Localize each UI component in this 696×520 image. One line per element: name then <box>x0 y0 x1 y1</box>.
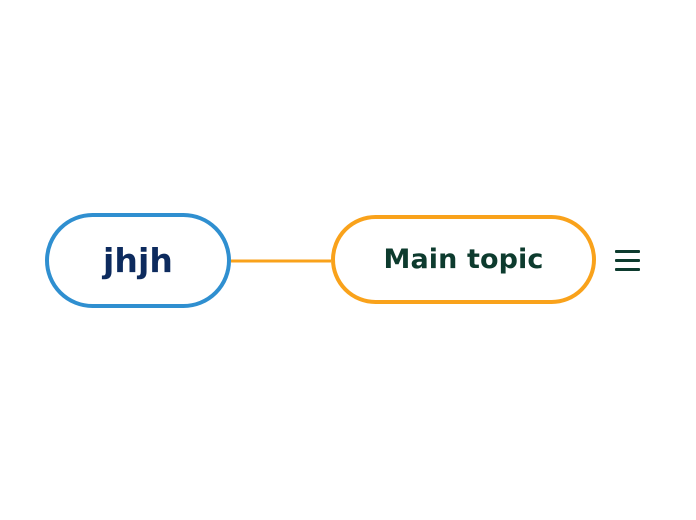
hamburger-menu-icon[interactable] <box>615 246 641 274</box>
mindmap-canvas[interactable]: jhjh Main topic <box>0 0 696 520</box>
mindmap-node-child-label: jhjh <box>103 244 173 277</box>
mindmap-node-root-label: Main topic <box>383 246 543 273</box>
hamburger-bar-bottom <box>615 268 640 271</box>
hamburger-bar-top <box>615 250 640 253</box>
mindmap-node-child[interactable]: jhjh <box>45 213 231 308</box>
hamburger-bar-middle <box>615 259 640 262</box>
mindmap-node-root[interactable]: Main topic <box>331 215 596 304</box>
